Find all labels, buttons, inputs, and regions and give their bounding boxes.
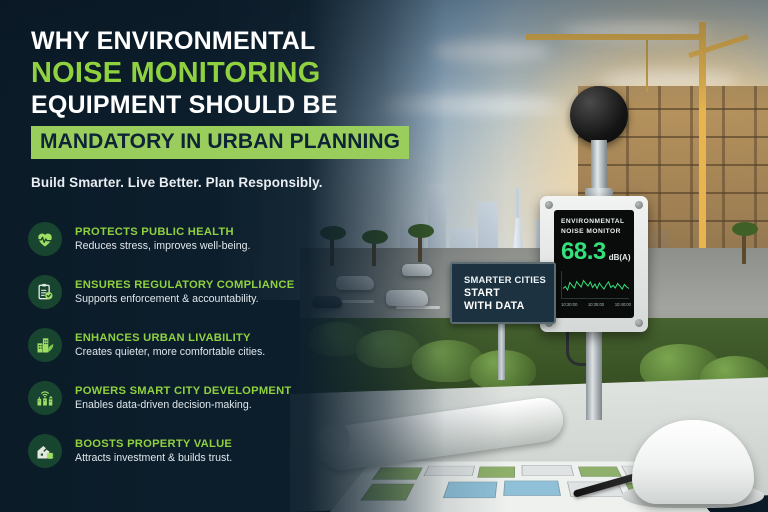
clipboard-check-icon [28, 275, 62, 309]
feature-text: ENSURES REGULATORY COMPLIANCE Supports e… [75, 279, 358, 305]
feature-title: PROTECTS PUBLIC HEALTH [75, 226, 358, 238]
buildings-leaf-icon [28, 328, 62, 362]
poster-content: WHY ENVIRONMENTAL NOISE MONITORING EQUIP… [0, 0, 768, 512]
buildings-leaf-glyph [35, 335, 55, 355]
feature-text: ENHANCES URBAN LIVABILITY Creates quiete… [75, 332, 358, 358]
headline-line2: NOISE MONITORING [31, 58, 431, 89]
feature-title: ENSURES REGULATORY COMPLIANCE [75, 279, 358, 291]
feature-title: POWERS SMART CITY DEVELOPMENT [75, 385, 358, 397]
smart-city-signal-icon [28, 381, 62, 415]
subtitle: Build Smarter. Live Better. Plan Respons… [31, 175, 323, 190]
feature-desc: Supports enforcement & accountability. [75, 293, 358, 305]
clipboard-check-glyph [35, 282, 55, 302]
house-growth-coins-icon [28, 434, 62, 468]
feature-title: ENHANCES URBAN LIVABILITY [75, 332, 358, 344]
feature-desc: Creates quieter, more comfortable cities… [75, 346, 358, 358]
house-growth-coins-glyph [35, 441, 55, 461]
feature-text: BOOSTS PROPERTY VALUE Attracts investmen… [75, 438, 358, 464]
feature-desc: Enables data-driven decision-making. [75, 399, 358, 411]
feature-text: POWERS SMART CITY DEVELOPMENT Enables da… [75, 385, 358, 411]
heart-pulse-icon [28, 222, 62, 256]
feature-text: PROTECTS PUBLIC HEALTH Reduces stress, i… [75, 226, 358, 252]
headline-line3: EQUIPMENT SHOULD BE [31, 92, 431, 119]
list-item: ENHANCES URBAN LIVABILITY Creates quiete… [28, 318, 358, 371]
list-item: PROTECTS PUBLIC HEALTH Reduces stress, i… [28, 212, 358, 265]
list-item: POWERS SMART CITY DEVELOPMENT Enables da… [28, 371, 358, 424]
headline-highlight-bar: MANDATORY IN URBAN PLANNING [31, 126, 409, 159]
infographic-poster: ENVIRONMENTAL NOISE MONITOR 68.3 dB(A) 1… [0, 0, 768, 512]
feature-desc: Reduces stress, improves well-being. [75, 240, 358, 252]
headline-line1: WHY ENVIRONMENTAL [31, 28, 431, 55]
headline-block: WHY ENVIRONMENTAL NOISE MONITORING EQUIP… [31, 28, 431, 159]
feature-title: BOOSTS PROPERTY VALUE [75, 438, 358, 450]
heart-pulse-glyph [35, 229, 55, 249]
list-item: ENSURES REGULATORY COMPLIANCE Supports e… [28, 265, 358, 318]
feature-list: PROTECTS PUBLIC HEALTH Reduces stress, i… [28, 212, 358, 477]
headline-line4: MANDATORY IN URBAN PLANNING [40, 131, 400, 153]
smart-city-signal-glyph [35, 388, 55, 408]
list-item: BOOSTS PROPERTY VALUE Attracts investmen… [28, 424, 358, 477]
feature-desc: Attracts investment & builds trust. [75, 452, 358, 464]
